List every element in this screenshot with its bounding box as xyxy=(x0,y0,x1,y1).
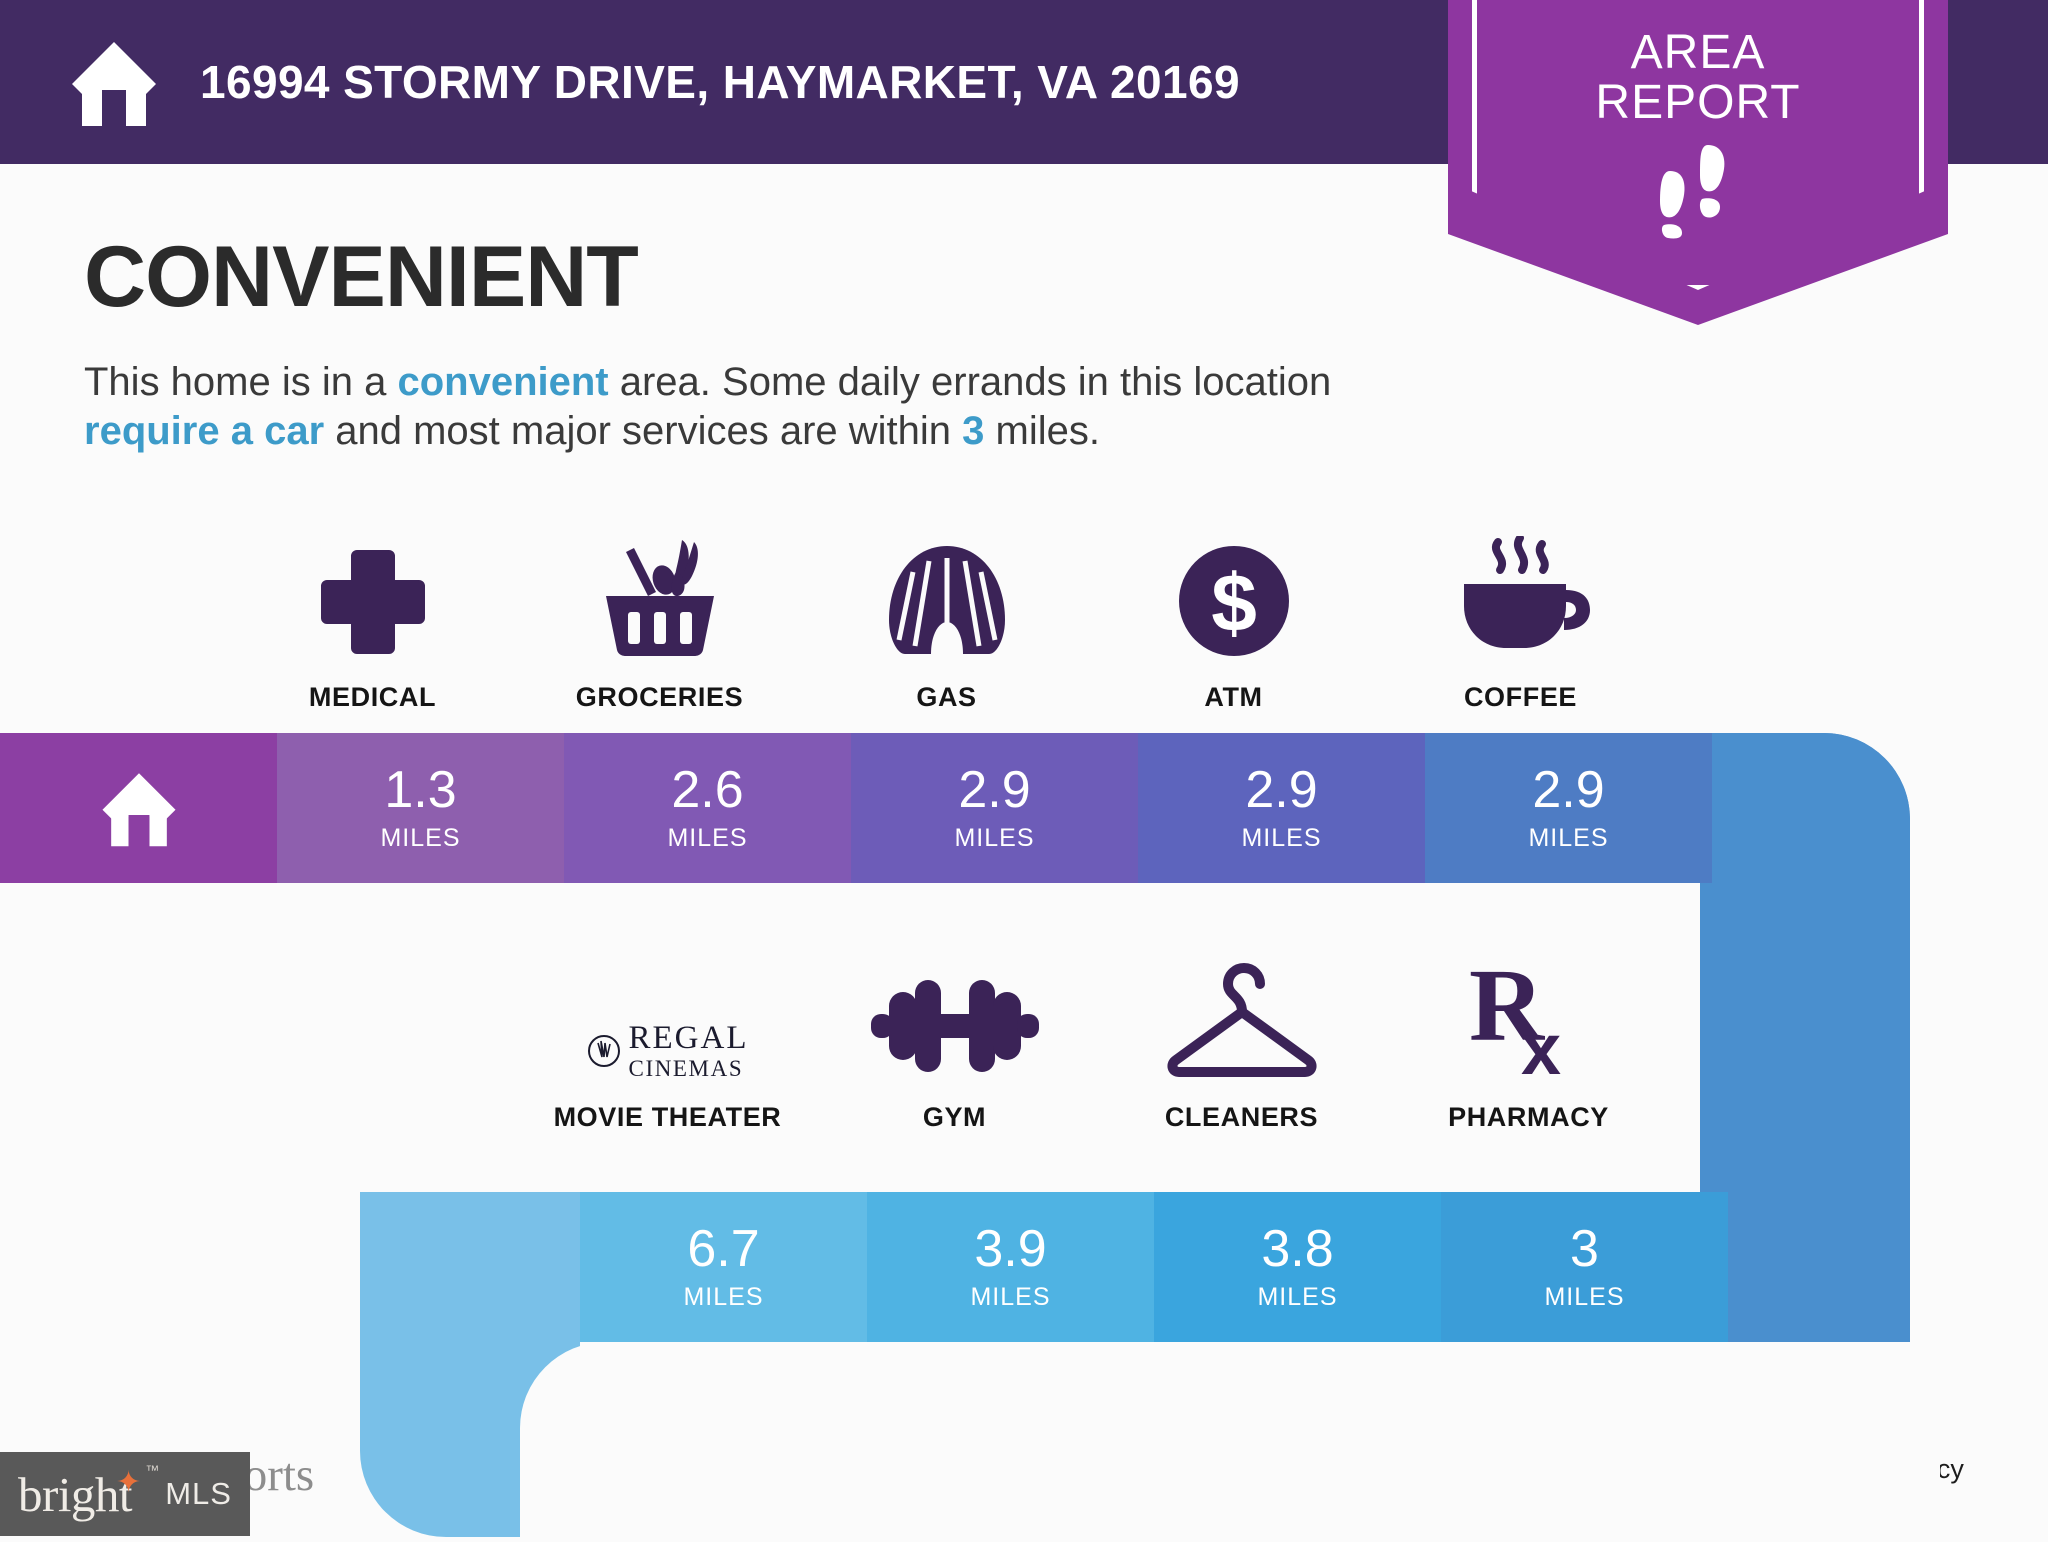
gas-shell-icon xyxy=(885,530,1009,660)
dumbbell-icon xyxy=(871,950,1039,1080)
distance-unit: MILES xyxy=(667,824,747,853)
area-report-badge: AREA REPORT xyxy=(1448,0,1948,325)
highlight-miles: 3 xyxy=(962,409,984,453)
amenity-label: MOVIE THEATER xyxy=(554,1102,782,1133)
distance-value: 6.7 xyxy=(687,1223,759,1275)
distance-cell: 2.9 MILES xyxy=(1425,733,1712,883)
amenity-medical: MEDICAL xyxy=(229,530,516,713)
distance-unit: MILES xyxy=(1257,1283,1337,1312)
amenity-icon-row-1: MEDICAL GROCERIES xyxy=(229,530,1664,713)
dollar-circle-icon: $ xyxy=(1175,530,1293,660)
amenity-groceries: GROCERIES xyxy=(516,530,803,713)
home-icon xyxy=(96,768,182,848)
regal-mark-icon xyxy=(587,1034,621,1068)
grocery-basket-icon xyxy=(590,530,730,660)
amenity-label: MEDICAL xyxy=(309,682,436,713)
distance-unit: MILES xyxy=(1528,824,1608,853)
spark-icon: ✦ xyxy=(116,1465,141,1500)
paragraph-part-1: This home is in a xyxy=(84,360,397,404)
highlight-require-a-car: require a car xyxy=(84,409,324,453)
paragraph-part-2: area. Some daily errands in this locatio… xyxy=(609,360,1332,404)
amenity-atm: $ ATM xyxy=(1090,530,1377,713)
distance-value: 3.8 xyxy=(1261,1223,1333,1275)
bar-curve-filler-left xyxy=(360,1192,580,1342)
distance-value: 2.9 xyxy=(1532,764,1604,816)
distance-unit: MILES xyxy=(1241,824,1321,853)
distance-unit: MILES xyxy=(1544,1283,1624,1312)
distance-cell: 1.3 MILES xyxy=(277,733,564,883)
home-marker-cell xyxy=(0,733,277,883)
svg-text:$: $ xyxy=(1211,558,1257,649)
bar-curve-filler-right xyxy=(1728,1192,1910,1342)
distance-value: 2.9 xyxy=(1245,764,1317,816)
amenity-label: COFFEE xyxy=(1464,682,1577,713)
page-title: CONVENIENT xyxy=(84,228,638,327)
bright-mls-logo: bright ✦ ™ MLS xyxy=(0,1452,250,1536)
summary-paragraph: This home is in a convenient area. Some … xyxy=(84,358,1444,456)
trademark-mark: ™ xyxy=(145,1462,159,1478)
badge-title-block: AREA REPORT xyxy=(1595,28,1800,129)
coffee-cup-icon xyxy=(1450,530,1592,660)
badge-line-1: AREA xyxy=(1595,28,1800,78)
paragraph-part-4: miles. xyxy=(984,409,1100,453)
paragraph-part-3: and most major services are within xyxy=(324,409,962,453)
amenity-label: CLEANERS xyxy=(1165,1102,1318,1133)
amenity-icon-row-2: REGAL CINEMAS MOVIE THEATER GYM xyxy=(524,950,1672,1133)
distance-cell: 3 MILES xyxy=(1441,1192,1728,1342)
amenity-movie-theater: REGAL CINEMAS MOVIE THEATER xyxy=(524,950,811,1133)
distance-cell: 6.7 MILES xyxy=(580,1192,867,1342)
bar-curve-filler xyxy=(1712,733,1910,883)
property-address: 16994 STORMY DRIVE, HAYMARKET, VA 20169 xyxy=(200,55,1240,109)
amenity-label: GYM xyxy=(923,1102,986,1133)
medical-cross-icon xyxy=(315,530,431,660)
home-icon xyxy=(68,36,160,128)
rx-icon: R x xyxy=(1467,950,1591,1080)
amenity-gas: GAS xyxy=(803,530,1090,713)
distance-value: 2.9 xyxy=(958,764,1030,816)
amenity-cleaners: CLEANERS xyxy=(1098,950,1385,1133)
amenity-pharmacy: R x PHARMACY xyxy=(1385,950,1672,1133)
snake-inner-notch-bottom xyxy=(520,1342,1940,1542)
distance-unit: MILES xyxy=(683,1283,763,1312)
distance-cell: 2.9 MILES xyxy=(851,733,1138,883)
distance-value: 2.6 xyxy=(671,764,743,816)
clothes-hanger-icon xyxy=(1162,950,1322,1080)
amenity-label: PHARMACY xyxy=(1448,1102,1609,1133)
regal-word-1: REGAL xyxy=(629,1022,749,1055)
amenity-coffee: COFFEE xyxy=(1377,530,1664,713)
distance-value: 1.3 xyxy=(384,764,456,816)
distance-cell: 2.6 MILES xyxy=(564,733,851,883)
distance-cell: 3.9 MILES xyxy=(867,1192,1154,1342)
distance-bar-row-2: 6.7 MILES 3.9 MILES 3.8 MILES 3 MILES xyxy=(360,1192,1910,1342)
distance-cell: 3.8 MILES xyxy=(1154,1192,1441,1342)
distance-bar-row-1: 1.3 MILES 2.6 MILES 2.9 MILES 2.9 MILES … xyxy=(0,733,1910,883)
highlight-convenient: convenient xyxy=(397,360,608,404)
amenity-label: ATM xyxy=(1204,682,1262,713)
amenity-label: GROCERIES xyxy=(576,682,743,713)
distance-unit: MILES xyxy=(970,1283,1050,1312)
regal-word-2: CINEMAS xyxy=(629,1057,749,1080)
distance-unit: MILES xyxy=(380,824,460,853)
amenity-label: GAS xyxy=(916,682,976,713)
distance-value: 3.9 xyxy=(974,1223,1046,1275)
brand-mls: MLS xyxy=(165,1476,232,1512)
brand-word: bright xyxy=(18,1466,132,1523)
distance-unit: MILES xyxy=(954,824,1034,853)
svg-text:x: x xyxy=(1521,1010,1561,1080)
footprints-icon xyxy=(1642,143,1754,244)
distance-cell: 2.9 MILES xyxy=(1138,733,1425,883)
badge-line-2: REPORT xyxy=(1595,78,1800,128)
distance-value: 3 xyxy=(1570,1223,1599,1275)
amenity-gym: GYM xyxy=(811,950,1098,1133)
regal-cinemas-logo: REGAL CINEMAS xyxy=(587,950,749,1080)
